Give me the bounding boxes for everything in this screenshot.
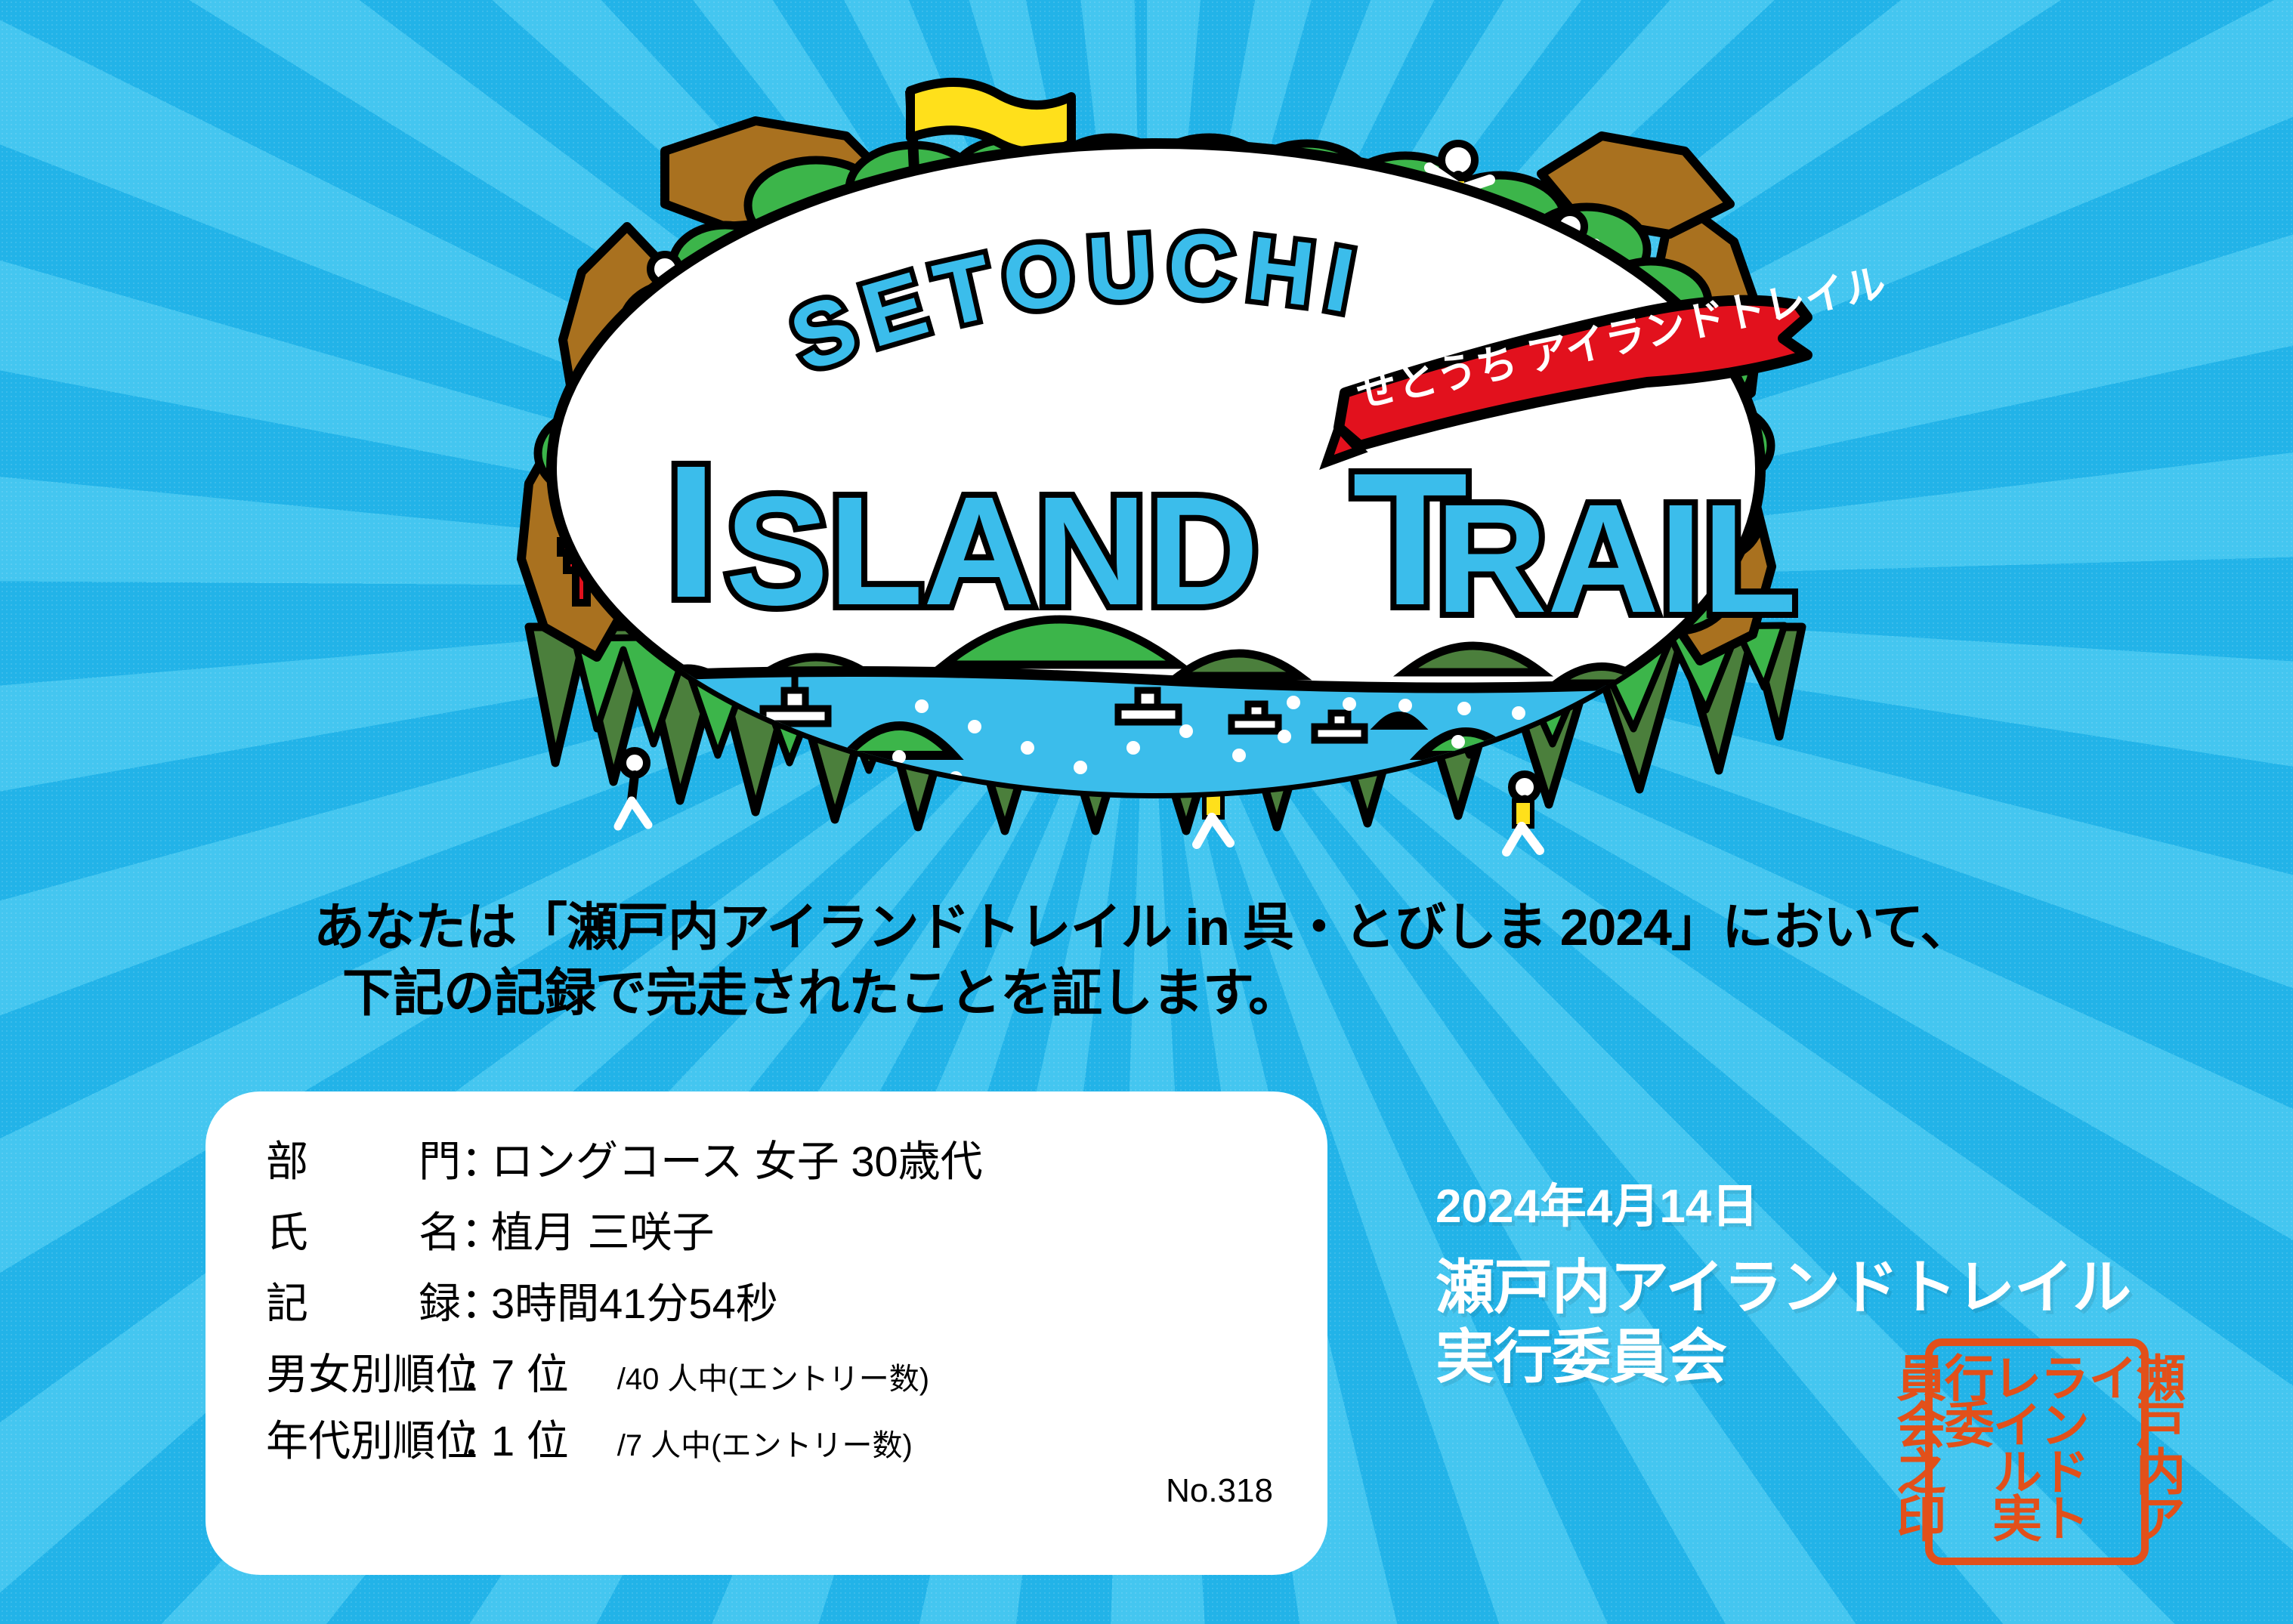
- record-value-name: 植月 三咲子: [491, 1199, 715, 1260]
- record-value-category: ロングコース 女子 30歳代: [491, 1128, 983, 1189]
- record-sub-gender-rank: /40 人中(エントリー数): [617, 1354, 929, 1398]
- record-colon-gender-rank: ：: [461, 1341, 491, 1402]
- svg-text:SLAND: SLAND: [725, 465, 1259, 638]
- record-card: 部 門 ： ロングコース 女子 30歳代 氏 名 ： 植月 三咲子 記 録 ： …: [206, 1091, 1327, 1575]
- seal-column-2: ランドト: [2037, 1352, 2084, 1539]
- svg-text:RAIL: RAIL: [1435, 472, 1797, 645]
- record-row-time: 記 録 ： 3時間41分54秒: [206, 1270, 1327, 1341]
- record-label-category: 部 門: [266, 1128, 461, 1189]
- record-row-age-rank: 年代別順位 ： 1 位 /7 人中(エントリー数): [206, 1407, 1327, 1474]
- record-row-category: 部 門 ： ロングコース 女子 30歳代: [206, 1128, 1327, 1199]
- record-row-gender-rank: 男女別順位 ： 7 位 /40 人中(エントリー数): [206, 1341, 1327, 1407]
- serial-number: No.318: [1166, 1472, 1273, 1510]
- event-logo: FINISH: [0, 0, 2293, 891]
- seal-column-4: 員会之印: [1893, 1352, 1941, 1539]
- issue-date: 2024年4月14日: [1435, 1168, 2131, 1236]
- svg-text:I: I: [665, 426, 717, 637]
- record-sub-age-rank: /7 人中(エントリー数): [617, 1421, 913, 1465]
- record-colon-category: ：: [461, 1128, 491, 1189]
- record-label-time: 記 録: [266, 1270, 461, 1331]
- record-colon-name: ：: [461, 1199, 491, 1260]
- record-label-age-rank: 年代別順位: [266, 1407, 461, 1468]
- seal-column-1: 瀬戸内アイ: [2084, 1352, 2180, 1551]
- declaration-line-2: 下記の記録で完走されたことを証します。: [314, 961, 2051, 1027]
- official-seal-stamp: 瀬戸内アイ ランドト レイル実行委 員会之印: [1925, 1338, 2149, 1565]
- record-value-time: 3時間41分54秒: [491, 1270, 778, 1331]
- record-value-gender-rank: 7 位: [491, 1341, 569, 1402]
- org-line-1: 瀬戸内アイランドトレイル: [1435, 1252, 2131, 1322]
- declaration-text: あなたは「瀬戸内アイランドトレイル in 呉・とびしま 2024」において、 下…: [314, 895, 2051, 1027]
- record-value-age-rank: 1 位: [491, 1407, 569, 1468]
- record-colon-age-rank: ：: [461, 1407, 491, 1468]
- record-label-gender-rank: 男女別順位: [266, 1341, 461, 1402]
- record-row-name: 氏 名 ： 植月 三咲子: [206, 1199, 1327, 1270]
- seal-column-3: レイル実行委: [1941, 1352, 2037, 1551]
- record-label-name: 氏 名: [266, 1199, 461, 1260]
- record-colon-time: ：: [461, 1270, 491, 1331]
- certificate-page: FINISH: [0, 0, 2293, 1624]
- declaration-line-1: あなたは「瀬戸内アイランドトレイル in 呉・とびしま 2024」において、: [314, 895, 2051, 961]
